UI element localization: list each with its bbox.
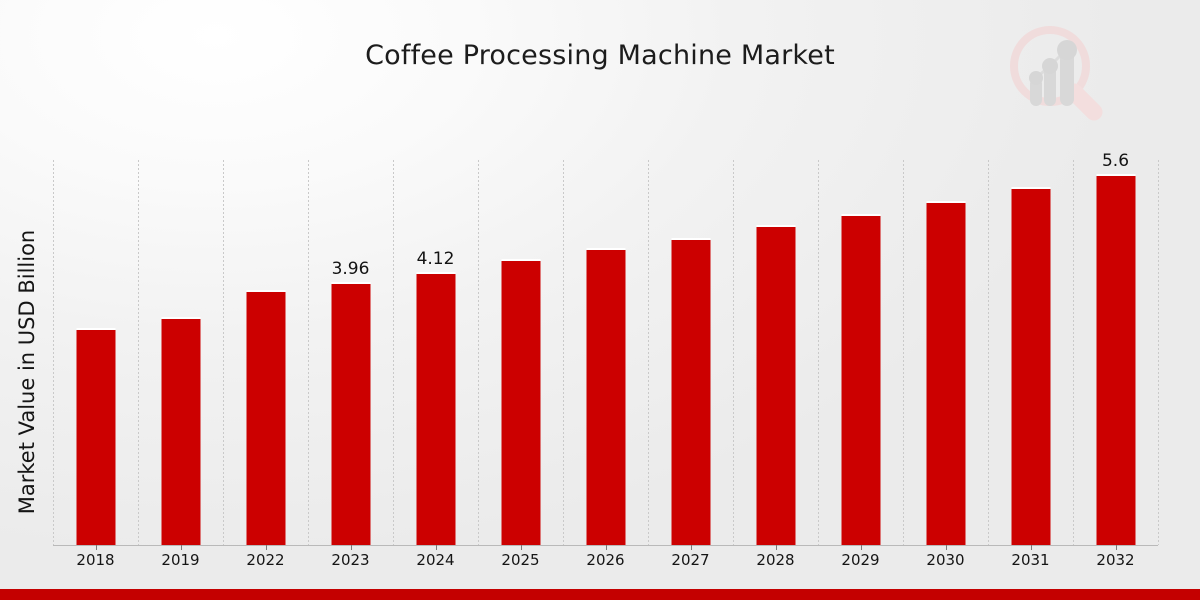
- x-tick-label-2030: 2030: [926, 551, 964, 569]
- bar-slot: [818, 160, 903, 545]
- x-tick-mark: [351, 545, 352, 550]
- bar-slot: 5.6: [1073, 160, 1158, 545]
- bar-2031[interactable]: [1011, 187, 1050, 545]
- x-tick-mark: [946, 545, 947, 550]
- y-axis-title: Market Value in USD Billion: [15, 162, 39, 582]
- grid-line: [1158, 160, 1159, 545]
- x-tick-mark: [861, 545, 862, 550]
- x-tick-label-2018: 2018: [76, 551, 114, 569]
- x-tick-mark: [436, 545, 437, 550]
- bar-value-label-2024: 4.12: [417, 249, 455, 269]
- bar-value-label-2032: 5.6: [1102, 151, 1129, 171]
- x-tick-mark: [776, 545, 777, 550]
- x-tick-mark: [266, 545, 267, 550]
- bar-2024[interactable]: [416, 272, 455, 545]
- x-tick-label-2032: 2032: [1096, 551, 1134, 569]
- x-tick-label-2025: 2025: [501, 551, 539, 569]
- bar-value-label-2023: 3.96: [332, 259, 370, 279]
- x-tick-label-2031: 2031: [1011, 551, 1049, 569]
- bar-slot: [903, 160, 988, 545]
- x-tick-label-2019: 2019: [161, 551, 199, 569]
- x-tick-mark: [521, 545, 522, 550]
- x-tick-label-2023: 2023: [331, 551, 369, 569]
- bar-slot: 4.12: [393, 160, 478, 545]
- bar-2025[interactable]: [501, 259, 540, 545]
- x-tick-label-2029: 2029: [841, 551, 879, 569]
- bar-slot: [138, 160, 223, 545]
- bar-2019[interactable]: [161, 317, 200, 545]
- bar-2023[interactable]: [331, 282, 370, 545]
- bar-slot: [648, 160, 733, 545]
- bar-slot: [733, 160, 818, 545]
- bar-2018[interactable]: [76, 328, 115, 545]
- bar-2022[interactable]: [246, 290, 285, 545]
- bar-slot: [223, 160, 308, 545]
- bar-2029[interactable]: [841, 214, 880, 545]
- bar-slot: 3.96: [308, 160, 393, 545]
- x-tick-label-2022: 2022: [246, 551, 284, 569]
- x-tick-label-2026: 2026: [586, 551, 624, 569]
- bar-slot: [53, 160, 138, 545]
- bar-2028[interactable]: [756, 225, 795, 545]
- x-tick-label-2024: 2024: [416, 551, 454, 569]
- bar-2030[interactable]: [926, 201, 965, 545]
- chart-figure: Coffee Processing Machine Market Market …: [0, 0, 1200, 600]
- bar-2027[interactable]: [671, 238, 710, 545]
- plot-area: 3.964.125.6: [53, 160, 1158, 545]
- x-tick-label-2027: 2027: [671, 551, 709, 569]
- market-research-magnifier-bars-logo: [1004, 22, 1108, 126]
- bar-slot: [478, 160, 563, 545]
- bar-2026[interactable]: [586, 248, 625, 545]
- x-tick-mark: [691, 545, 692, 550]
- footer-accent-band: [0, 589, 1200, 600]
- x-tick-mark: [1031, 545, 1032, 550]
- x-tick-label-2028: 2028: [756, 551, 794, 569]
- x-tick-mark: [606, 545, 607, 550]
- bar-2032[interactable]: [1096, 174, 1135, 545]
- bar-slot: [988, 160, 1073, 545]
- x-tick-mark: [96, 545, 97, 550]
- x-tick-mark: [181, 545, 182, 550]
- x-tick-mark: [1116, 545, 1117, 550]
- bar-slot: [563, 160, 648, 545]
